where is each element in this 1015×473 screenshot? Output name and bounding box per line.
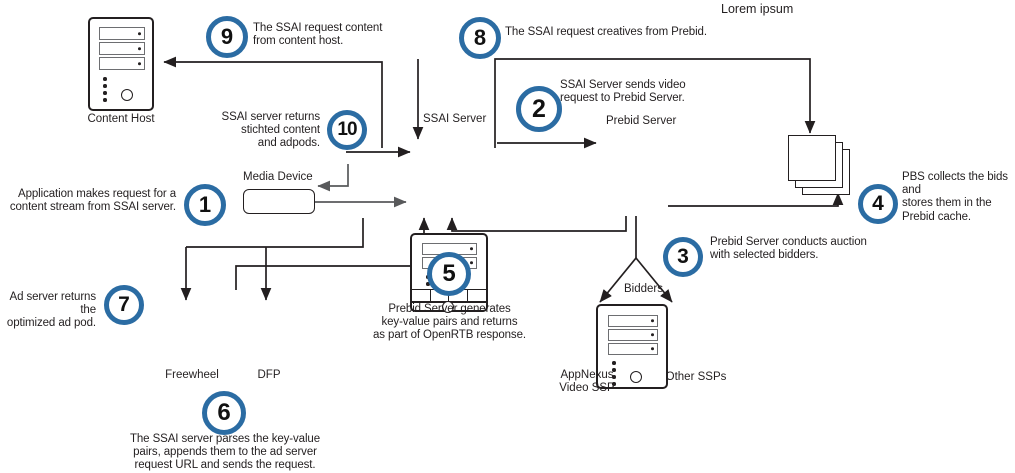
- step-6-text: The SSAI server parses the key-value pai…: [114, 433, 336, 473]
- step-7-line2: optimized ad pod.: [0, 317, 96, 330]
- step-4-line1: PBS collects the bids and: [902, 171, 1015, 197]
- step-3-line1: Prebid Server conducts auction: [710, 236, 890, 249]
- bidders-edge-label: Bidders: [624, 283, 663, 295]
- step-10-badge[interactable]: 10: [327, 110, 367, 150]
- other-ssps-label: Other SSPs: [655, 371, 737, 383]
- step-1-badge[interactable]: 1: [184, 184, 226, 226]
- step-9-text: The SSAI request content from content ho…: [253, 22, 398, 48]
- step-9-line1: The SSAI request content: [253, 22, 398, 35]
- step-5-line3: as part of OpenRTB response.: [372, 329, 527, 342]
- ssai-server-label: SSAI Server: [423, 113, 486, 125]
- step-10-text: SSAI server returns stichted content and…: [201, 111, 320, 151]
- step-4-text: PBS collects the bids and stores them in…: [902, 171, 1015, 224]
- step-6-line2: pairs, appends them to the ad server: [114, 446, 336, 459]
- content-host-label: Content Host: [76, 113, 166, 125]
- step-10-line2: stichted content: [201, 124, 320, 137]
- step-1-line2: content stream from SSAI server.: [4, 201, 176, 214]
- step-4-badge[interactable]: 4: [858, 184, 898, 224]
- step-3-text: Prebid Server conducts auction with sele…: [710, 236, 890, 262]
- media-device-label: Media Device: [243, 171, 313, 183]
- step-5-line1: Prebid Server generates: [372, 303, 527, 316]
- step-1-line1: Application makes request for a: [4, 188, 176, 201]
- step-7-badge[interactable]: 7: [104, 285, 144, 325]
- step-7-text: Ad server returns the optimized ad pod.: [0, 291, 96, 331]
- step-4-line3: Prebid cache.: [902, 211, 1015, 224]
- media-device-icon: [243, 189, 315, 214]
- step-6-badge[interactable]: 6: [202, 391, 246, 435]
- dfp-label: DFP: [238, 369, 300, 381]
- step-2-line1: SSAI Server sends video: [560, 79, 720, 92]
- diagram-canvas: Lorem ipsum Content Host SSAI Server Pre…: [0, 0, 1015, 473]
- step-2-badge[interactable]: 2: [516, 86, 562, 132]
- step-3-badge[interactable]: 3: [663, 237, 703, 277]
- step-5-badge[interactable]: 5: [427, 252, 471, 296]
- step-8-text: The SSAI request creatives from Prebid.: [505, 26, 735, 39]
- step-4-line2: stores them in the: [902, 197, 1015, 210]
- step-10-line1: SSAI server returns: [201, 111, 320, 124]
- step-7-line1: Ad server returns the: [0, 291, 96, 317]
- content-host-server-icon: [88, 17, 154, 111]
- step-8-line1: The SSAI request creatives from Prebid.: [505, 26, 735, 39]
- appnexus-label-line1: AppNexus: [541, 369, 633, 381]
- step-1-text: Application makes request for a content …: [4, 188, 176, 214]
- step-9-badge[interactable]: 9: [206, 16, 248, 58]
- step-2-text: SSAI Server sends video request to Prebi…: [560, 79, 720, 105]
- step-6-line3: request URL and sends the request.: [114, 459, 336, 472]
- step-5-text: Prebid Server generates key-value pairs …: [372, 303, 527, 343]
- step-2-line2: request to Prebid Server.: [560, 92, 720, 105]
- diagram-title: Lorem ipsum: [721, 2, 793, 16]
- step-9-line2: from content host.: [253, 35, 398, 48]
- step-8-badge[interactable]: 8: [459, 17, 501, 59]
- step-10-line3: and adpods.: [201, 137, 320, 150]
- step-3-line2: with selected bidders.: [710, 249, 890, 262]
- prebid-cache-icon: [788, 135, 856, 197]
- step-5-line2: key-value pairs and returns: [372, 316, 527, 329]
- appnexus-label-line2: Video SSP: [541, 382, 633, 394]
- step-6-line1: The SSAI server parses the key-value: [114, 433, 336, 446]
- freewheel-label: Freewheel: [152, 369, 232, 381]
- prebid-server-label: Prebid Server: [606, 115, 676, 127]
